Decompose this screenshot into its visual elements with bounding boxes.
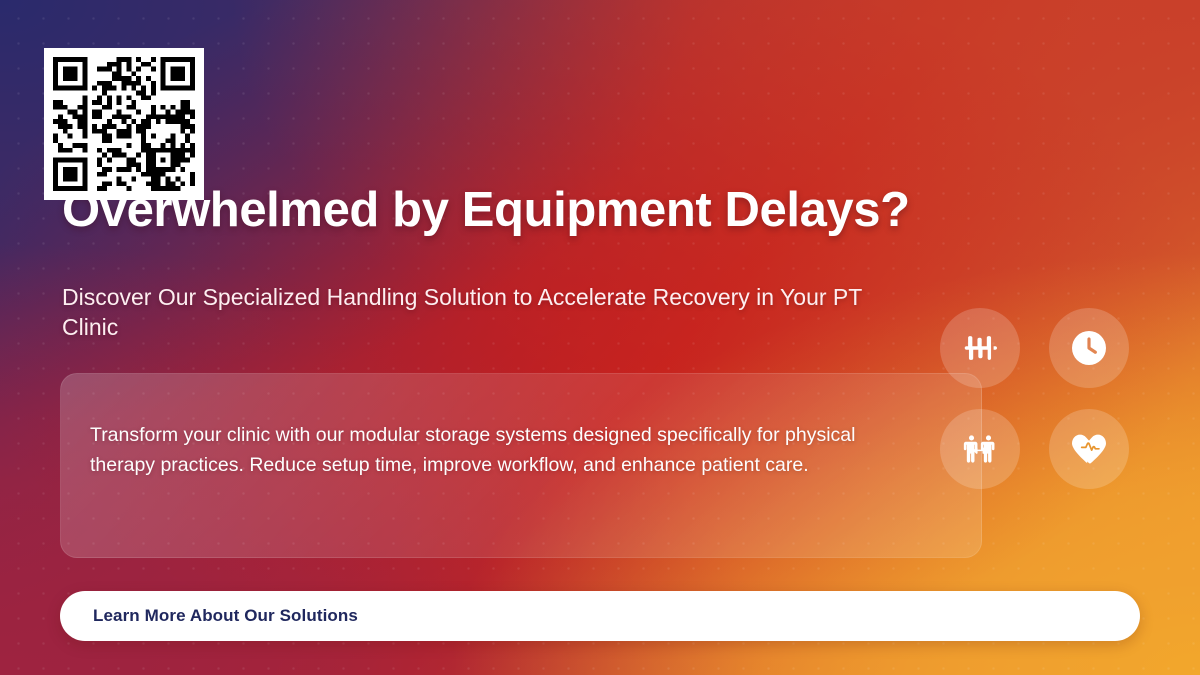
- clock-icon: [1049, 308, 1129, 388]
- qr-code[interactable]: [44, 48, 204, 200]
- learn-more-button-label: Learn More About Our Solutions: [93, 606, 358, 626]
- feature-icon-group: [940, 308, 1140, 488]
- dumbbell-icon: [940, 308, 1020, 388]
- page-subtitle: Discover Our Specialized Handling Soluti…: [62, 282, 922, 343]
- heart-pulse-icon: [1049, 409, 1129, 489]
- page-title: Overwhelmed by Equipment Delays?: [62, 184, 1082, 237]
- learn-more-button[interactable]: Learn More About Our Solutions: [60, 591, 1140, 641]
- description-text: Transform your clinic with our modular s…: [90, 420, 920, 480]
- qr-code-image: [53, 57, 195, 191]
- poster-canvas: Overwhelmed by Equipment Delays? Discove…: [0, 0, 1200, 675]
- people-transfer-icon: [940, 409, 1020, 489]
